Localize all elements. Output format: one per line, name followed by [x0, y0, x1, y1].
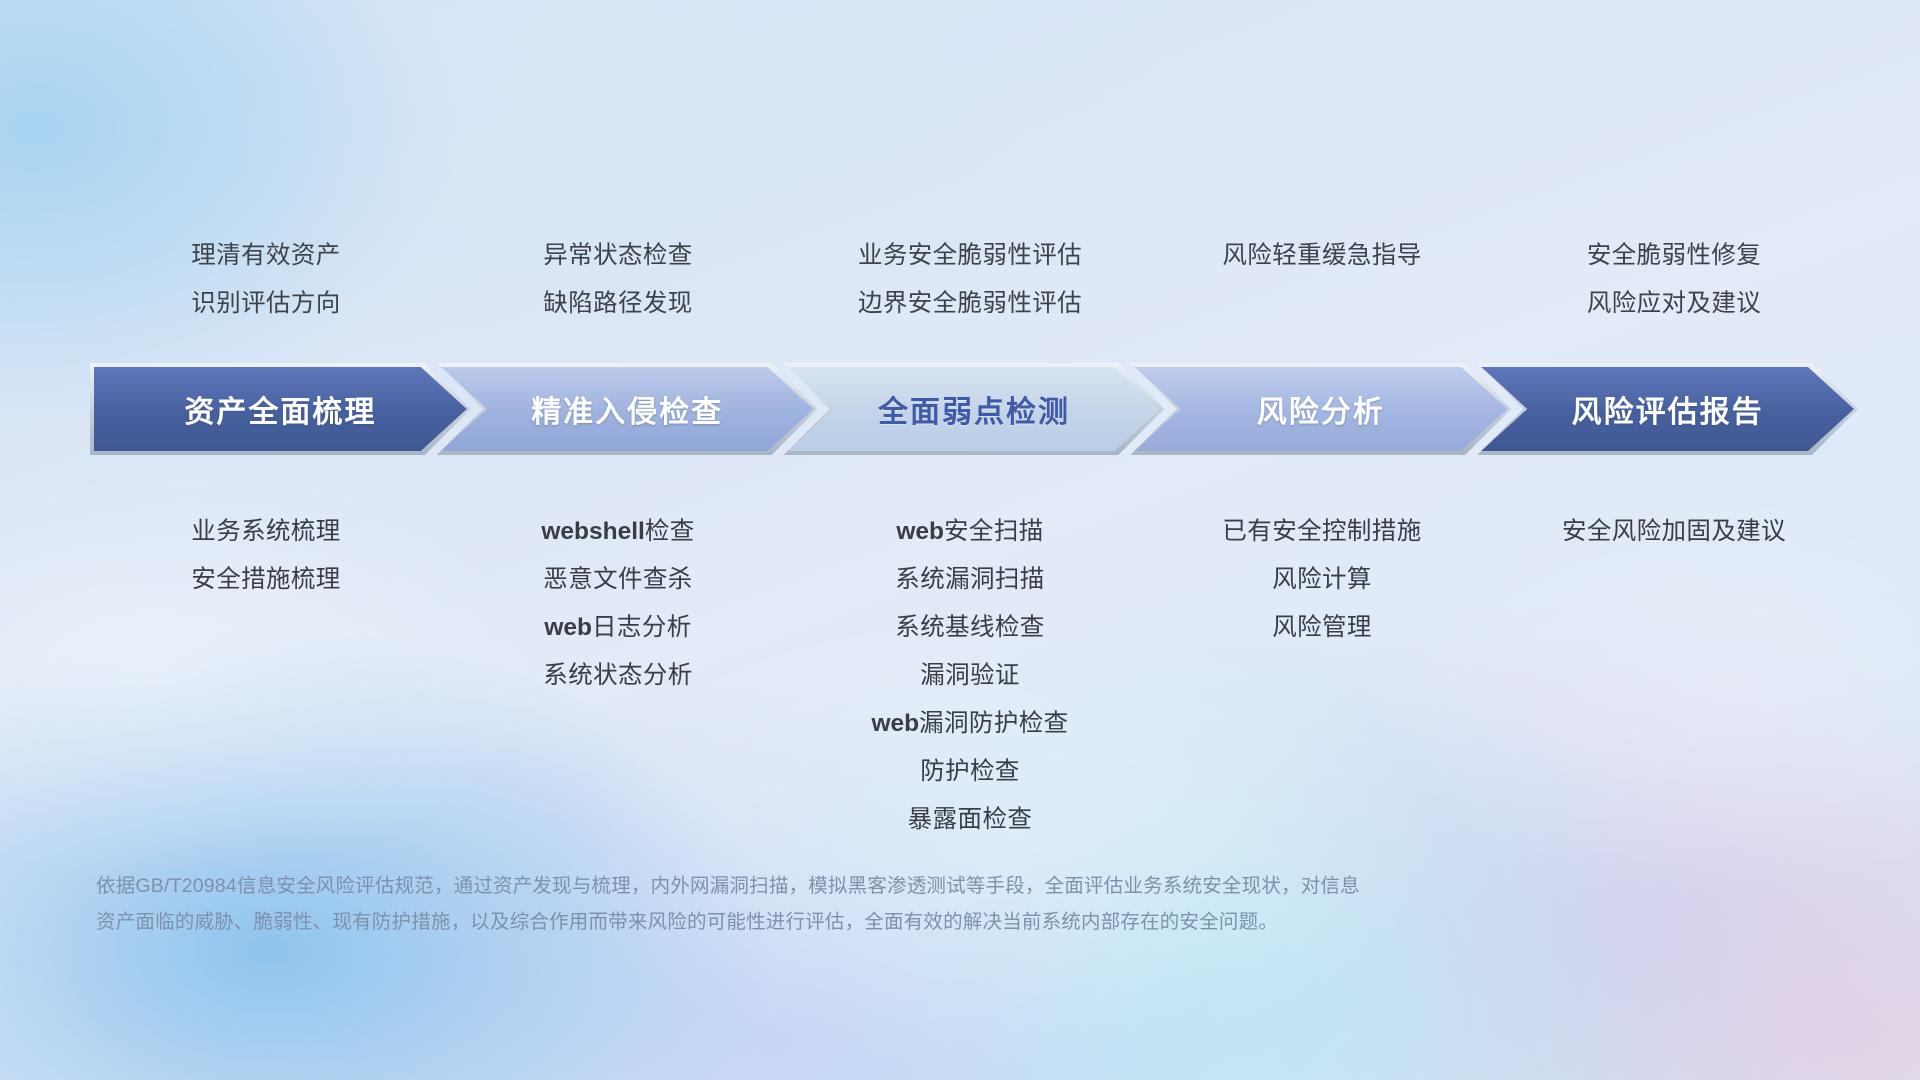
bottom-item-latin: webshell [541, 518, 644, 545]
bottom-items-row: 业务系统梳理安全措施梳理webshell检查恶意文件查杀web日志分析系统状态分… [90, 508, 1850, 844]
bottom-item: web日志分析 [442, 604, 794, 652]
bottom-item: 业务系统梳理 [90, 508, 442, 556]
process-chevron-band: 资产全面梳理精准入侵检查全面弱点检测风险分析风险评估报告 [90, 363, 1858, 455]
bottom-item: 系统状态分析 [442, 652, 794, 700]
process-stage-2[interactable]: 全面弱点检测 [784, 363, 1165, 455]
process-stage-0[interactable]: 资产全面梳理 [90, 363, 471, 455]
bottom-item: 恶意文件查杀 [442, 556, 794, 604]
top-item: 风险轻重缓急指导 [1146, 232, 1498, 280]
bottom-item: webshell检查 [442, 508, 794, 556]
bottom-item-latin: web [544, 614, 592, 641]
top-item-list-4: 安全脆弱性修复风险应对及建议 [1498, 232, 1850, 328]
bottom-item: 防护检查 [794, 748, 1146, 796]
footnote-line-1: 依据GB/T20984信息安全风险评估规范，通过资产发现与梳理，内外网漏洞扫描，… [96, 868, 1616, 904]
bottom-item: 已有安全控制措施 [1146, 508, 1498, 556]
bottom-item: 安全风险加固及建议 [1498, 508, 1850, 556]
process-stage-4[interactable]: 风险评估报告 [1477, 363, 1858, 455]
bottom-item-latin: web [896, 518, 944, 545]
bottom-item: 漏洞验证 [794, 652, 1146, 700]
top-item: 边界安全脆弱性评估 [794, 280, 1146, 328]
bottom-item-cjk: 漏洞防护检查 [919, 710, 1068, 737]
diagram-canvas: 理清有效资产识别评估方向异常状态检查缺陷路径发现业务安全脆弱性评估边界安全脆弱性… [0, 0, 1920, 1080]
stage-label: 风险分析 [1257, 387, 1385, 431]
bottom-item-list-4: 安全风险加固及建议 [1498, 508, 1850, 844]
top-item-list-3: 风险轻重缓急指导 [1146, 232, 1498, 328]
stage-label: 资产全面梳理 [184, 387, 376, 431]
process-stage-1[interactable]: 精准入侵检查 [437, 363, 818, 455]
bottom-item-list-3: 已有安全控制措施风险计算风险管理 [1146, 508, 1498, 844]
bottom-item-latin: web [871, 710, 919, 737]
bottom-item: 安全措施梳理 [90, 556, 442, 604]
bottom-item: 系统漏洞扫描 [794, 556, 1146, 604]
stage-label: 精准入侵检查 [531, 387, 723, 431]
bottom-item-cjk: 检查 [645, 518, 695, 545]
bottom-item: 风险计算 [1146, 556, 1498, 604]
stage-label: 风险评估报告 [1572, 387, 1764, 431]
bottom-item: 系统基线检查 [794, 604, 1146, 652]
bottom-item-list-2: web安全扫描系统漏洞扫描系统基线检查漏洞验证web漏洞防护检查防护检查暴露面检… [794, 508, 1146, 844]
top-item-list-0: 理清有效资产识别评估方向 [90, 232, 442, 328]
bottom-item: 暴露面检查 [794, 796, 1146, 844]
bottom-item-list-0: 业务系统梳理安全措施梳理 [90, 508, 442, 844]
bottom-item: web漏洞防护检查 [794, 700, 1146, 748]
bottom-item-cjk: 日志分析 [592, 614, 692, 641]
top-item: 理清有效资产 [90, 232, 442, 280]
bottom-item: 风险管理 [1146, 604, 1498, 652]
footnote-line-2: 资产面临的威胁、脆弱性、现有防护措施，以及综合作用而带来风险的可能性进行评估，全… [96, 904, 1616, 940]
bottom-item-cjk: 安全扫描 [944, 518, 1044, 545]
top-item: 缺陷路径发现 [442, 280, 794, 328]
top-item-list-1: 异常状态检查缺陷路径发现 [442, 232, 794, 328]
footnote: 依据GB/T20984信息安全风险评估规范，通过资产发现与梳理，内外网漏洞扫描，… [96, 868, 1616, 940]
top-item: 识别评估方向 [90, 280, 442, 328]
top-item-list-2: 业务安全脆弱性评估边界安全脆弱性评估 [794, 232, 1146, 328]
top-items-row: 理清有效资产识别评估方向异常状态检查缺陷路径发现业务安全脆弱性评估边界安全脆弱性… [90, 232, 1850, 328]
top-item: 风险应对及建议 [1498, 280, 1850, 328]
top-item: 安全脆弱性修复 [1498, 232, 1850, 280]
top-item: 异常状态检查 [442, 232, 794, 280]
top-item: 业务安全脆弱性评估 [794, 232, 1146, 280]
bottom-item-list-1: webshell检查恶意文件查杀web日志分析系统状态分析 [442, 508, 794, 844]
bottom-item: web安全扫描 [794, 508, 1146, 556]
stage-label: 全面弱点检测 [878, 387, 1070, 431]
process-stage-3[interactable]: 风险分析 [1130, 363, 1511, 455]
